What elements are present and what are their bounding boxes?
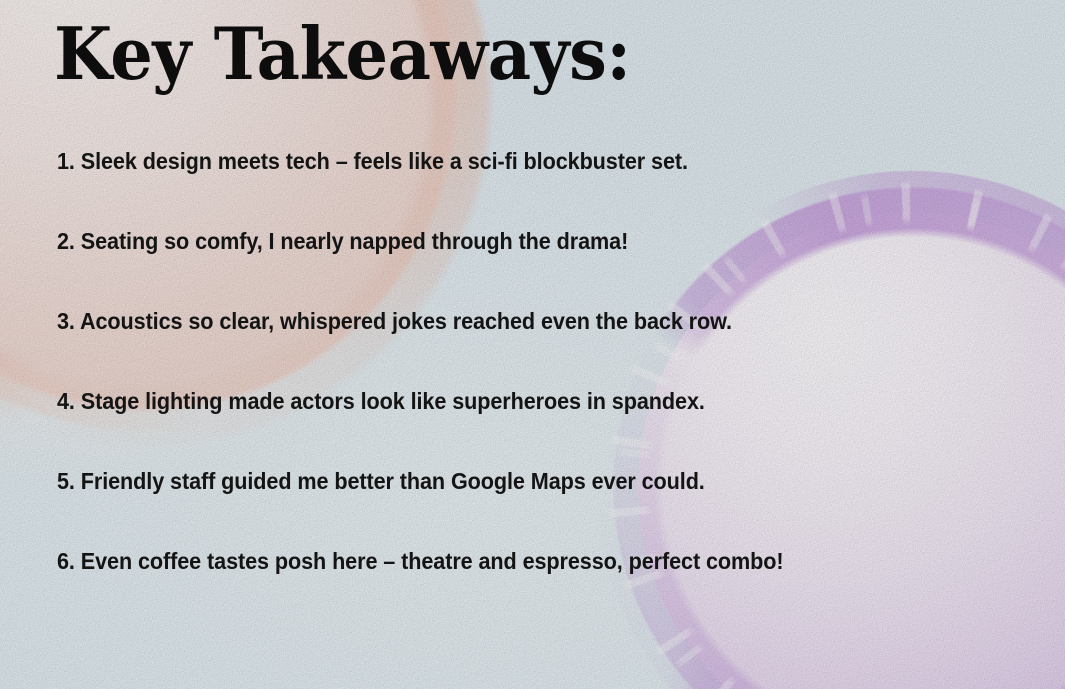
list-item: 3. Acoustics so clear, whispered jokes r… [57,310,940,390]
list-item: 1. Sleek design meets tech – feels like … [57,150,940,230]
list-item: 5. Friendly staff guided me better than … [57,470,940,550]
list-item: 2. Seating so comfy, I nearly napped thr… [57,230,940,310]
slide-content: Key Takeaways: 1. Sleek design meets tec… [0,0,1065,689]
list-item: 6. Even coffee tastes posh here – theatr… [57,550,940,630]
list-item: 4. Stage lighting made actors look like … [57,390,940,470]
slide-canvas: Key Takeaways: 1. Sleek design meets tec… [0,0,1065,689]
page-title: Key Takeaways: [54,16,631,92]
takeaways-list: 1. Sleek design meets tech – feels like … [57,150,1017,630]
